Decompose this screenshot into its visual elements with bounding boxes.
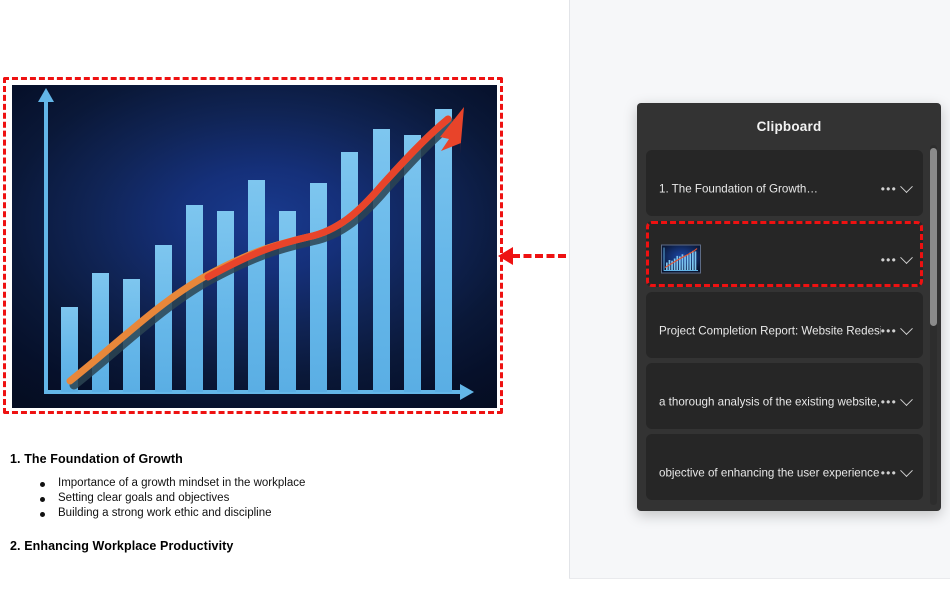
- clipboard-item-actions: •••: [881, 254, 911, 266]
- clipboard-item-label: objective of enhancing the user experien…: [659, 467, 881, 480]
- bottom-strip: [569, 578, 950, 594]
- clipboard-item-actions: •••: [881, 467, 911, 479]
- chevron-down-icon[interactable]: [900, 393, 913, 406]
- chevron-down-icon[interactable]: [900, 322, 913, 335]
- clipboard-item-thumbnail[interactable]: [661, 245, 701, 274]
- document-canvas: 1. The Foundation of Growth Importance o…: [0, 0, 569, 594]
- clipboard-item-list: 1. The Foundation of Growth… •••: [646, 150, 932, 502]
- clipboard-item-4[interactable]: objective of enhancing the user experien…: [646, 434, 923, 500]
- doc-heading-2: 2. Enhancing Workplace Productivity: [10, 539, 530, 553]
- more-options-icon[interactable]: •••: [881, 325, 897, 337]
- doc-bullet-item: Setting clear goals and objectives: [40, 491, 530, 506]
- chevron-down-icon[interactable]: [900, 251, 913, 264]
- clipboard-panel: Clipboard 1. The Foundation of Growth… •…: [637, 103, 941, 511]
- clipboard-item-2[interactable]: Project Completion Report: Website Redes…: [646, 292, 923, 358]
- clipboard-item-3[interactable]: a thorough analysis of the existing webs…: [646, 363, 923, 429]
- clipboard-scrollbar-thumb[interactable]: [930, 148, 937, 326]
- doc-bullet-list: Importance of a growth mindset in the wo…: [10, 476, 530, 522]
- connector-arrowhead-icon: [498, 247, 513, 265]
- clipboard-item-1[interactable]: •••: [646, 221, 923, 287]
- doc-bullet-item: Importance of a growth mindset in the wo…: [40, 476, 530, 491]
- doc-heading-1: 1. The Foundation of Growth: [10, 452, 530, 466]
- chevron-down-icon[interactable]: [900, 180, 913, 193]
- clipboard-item-actions: •••: [881, 396, 911, 408]
- more-options-icon[interactable]: •••: [881, 467, 897, 479]
- clipboard-item-actions: •••: [881, 325, 911, 337]
- clipboard-title: Clipboard: [637, 119, 941, 134]
- document-text: 1. The Foundation of Growth Importance o…: [10, 452, 530, 553]
- clipboard-item-label: Project Completion Report: Website Redes…: [659, 325, 881, 338]
- more-options-icon[interactable]: •••: [881, 254, 897, 266]
- more-options-icon[interactable]: •••: [881, 183, 897, 195]
- thumbnail-chart-icon: [662, 246, 700, 273]
- clipboard-item-0[interactable]: 1. The Foundation of Growth… •••: [646, 150, 923, 216]
- chevron-down-icon[interactable]: [900, 464, 913, 477]
- clipboard-item-label: a thorough analysis of the existing webs…: [659, 396, 881, 409]
- more-options-icon[interactable]: •••: [881, 396, 897, 408]
- doc-bullet-item: Building a strong work ethic and discipl…: [40, 506, 530, 521]
- clipboard-item-actions: •••: [881, 183, 911, 195]
- clipboard-item-label: 1. The Foundation of Growth…: [659, 183, 818, 196]
- chart-selection-outline[interactable]: [3, 77, 503, 414]
